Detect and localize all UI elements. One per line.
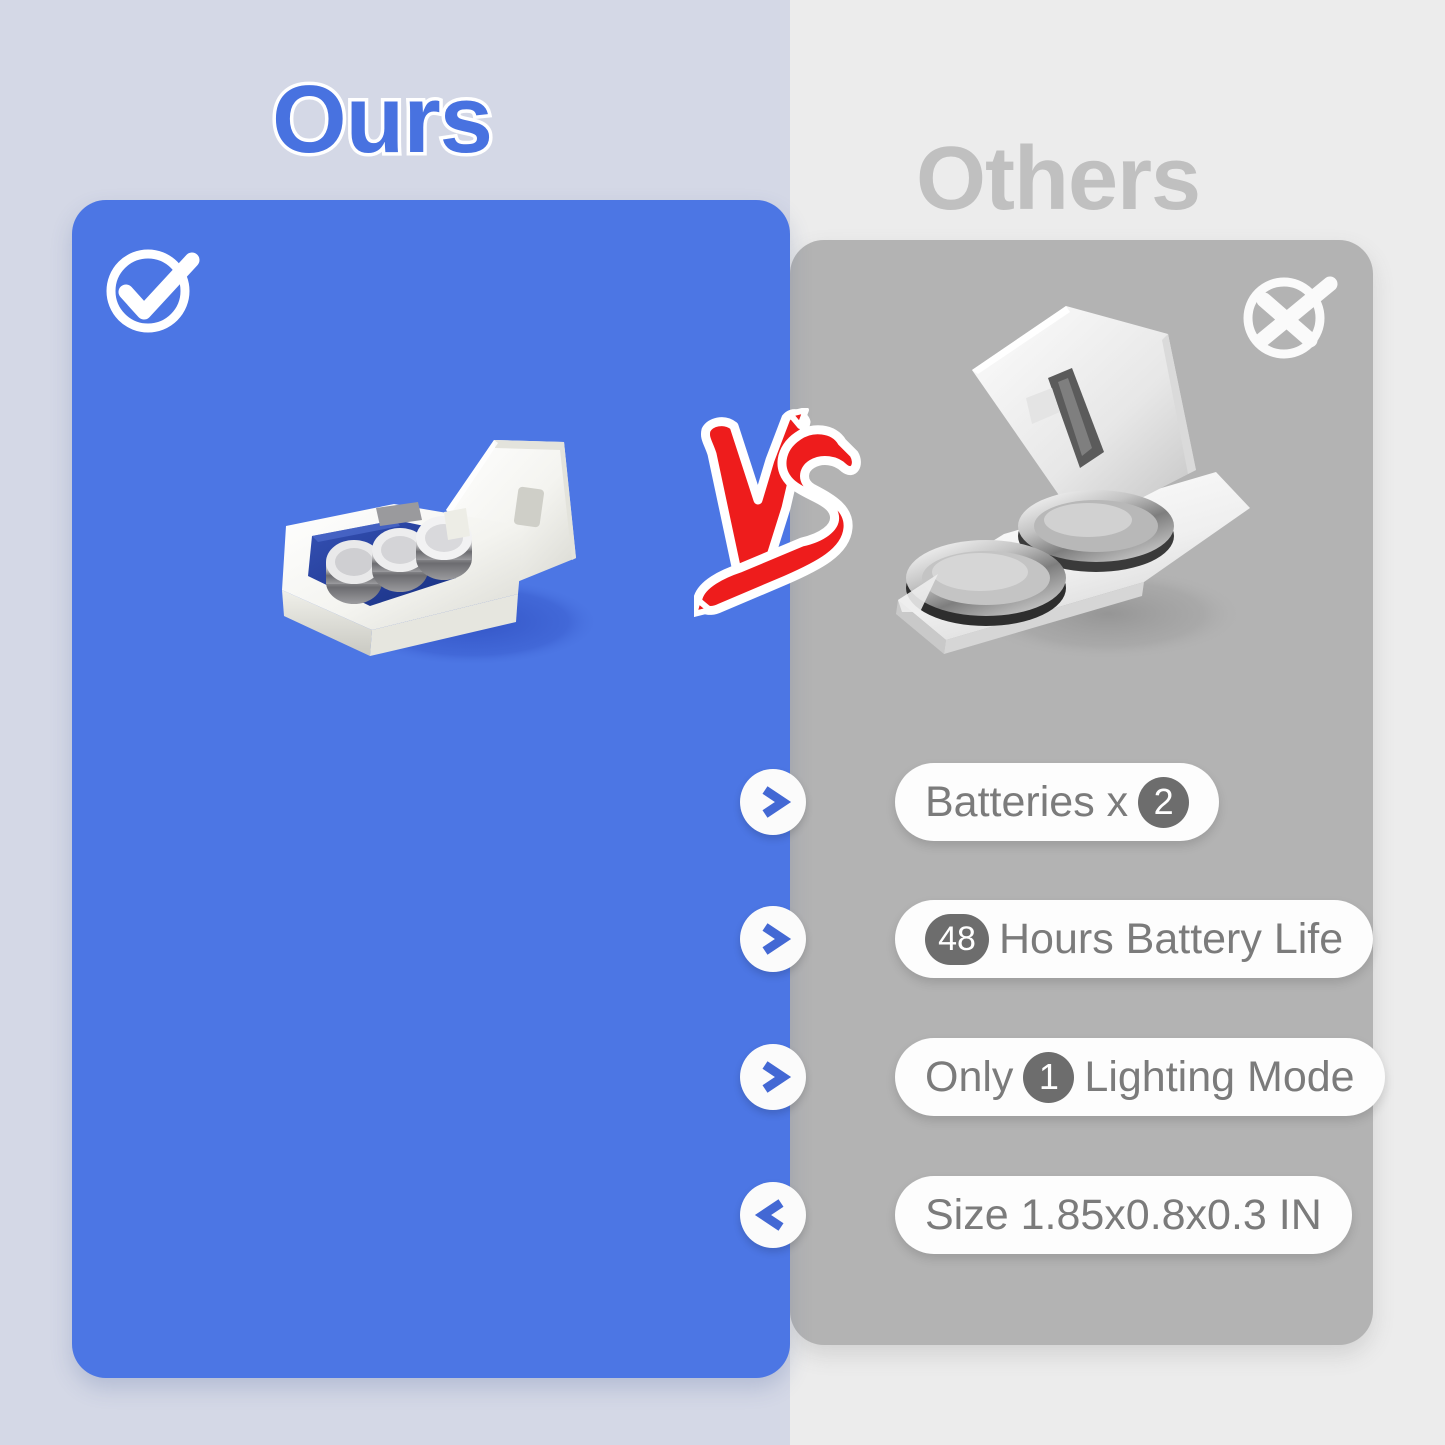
comparison-operator <box>740 906 806 972</box>
pill-badge: 48 <box>925 914 989 965</box>
ours-title: Ours <box>272 72 492 168</box>
pill-text: Size 1.85x0.8x0.3 IN <box>925 1194 1322 1237</box>
versus-graphic <box>694 408 862 634</box>
others-feature-pill[interactable]: Batteries x 2 <box>895 763 1219 841</box>
comparison-operator <box>740 1182 806 1248</box>
pill-text: Lighting Mode <box>1084 1056 1354 1099</box>
pill-text: Batteries x <box>925 781 1128 824</box>
others-feature-pill[interactable]: Size 1.85x0.8x0.3 IN <box>895 1176 1352 1254</box>
others-product-image <box>876 282 1272 678</box>
check-circle-icon <box>100 243 200 344</box>
pill-text-pre: Only <box>925 1056 1013 1099</box>
others-feature-pill[interactable]: Only 1 Lighting Mode <box>895 1038 1385 1116</box>
comparison-operator <box>740 1044 806 1110</box>
pill-text: Hours Battery Life <box>999 918 1343 961</box>
ours-product-image <box>276 330 612 700</box>
comparison-infographic: Others Ours <box>0 0 1445 1445</box>
comparison-operator <box>740 769 806 835</box>
others-feature-pill[interactable]: 48 Hours Battery Life <box>895 900 1373 978</box>
others-title: Others <box>916 134 1200 224</box>
pill-badge: 1 <box>1023 1052 1074 1103</box>
pill-badge: 2 <box>1138 777 1189 828</box>
